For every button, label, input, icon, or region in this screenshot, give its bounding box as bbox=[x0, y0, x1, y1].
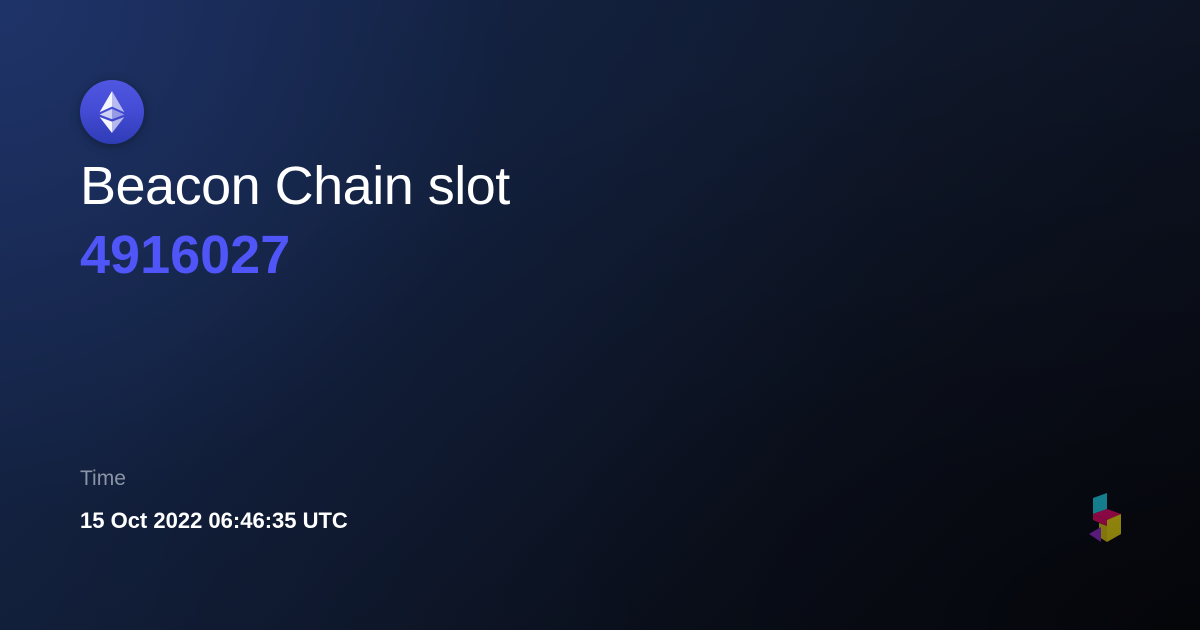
page-title-text: Beacon Chain slot bbox=[80, 152, 1100, 220]
beaconchain-logo bbox=[1085, 492, 1127, 550]
time-block: Time 15 Oct 2022 06:46:35 UTC bbox=[80, 464, 348, 535]
time-label: Time bbox=[80, 464, 348, 494]
page-title: Beacon Chain slot 4916027 bbox=[80, 152, 1100, 290]
slot-number-value: 4916027 bbox=[80, 220, 1100, 290]
time-value: 15 Oct 2022 06:46:35 UTC bbox=[80, 507, 348, 535]
social-preview-card: Beacon Chain slot 4916027 Time 15 Oct 20… bbox=[0, 0, 1200, 630]
ethereum-diamond-icon bbox=[99, 91, 125, 133]
ethereum-logo-badge bbox=[80, 80, 144, 144]
